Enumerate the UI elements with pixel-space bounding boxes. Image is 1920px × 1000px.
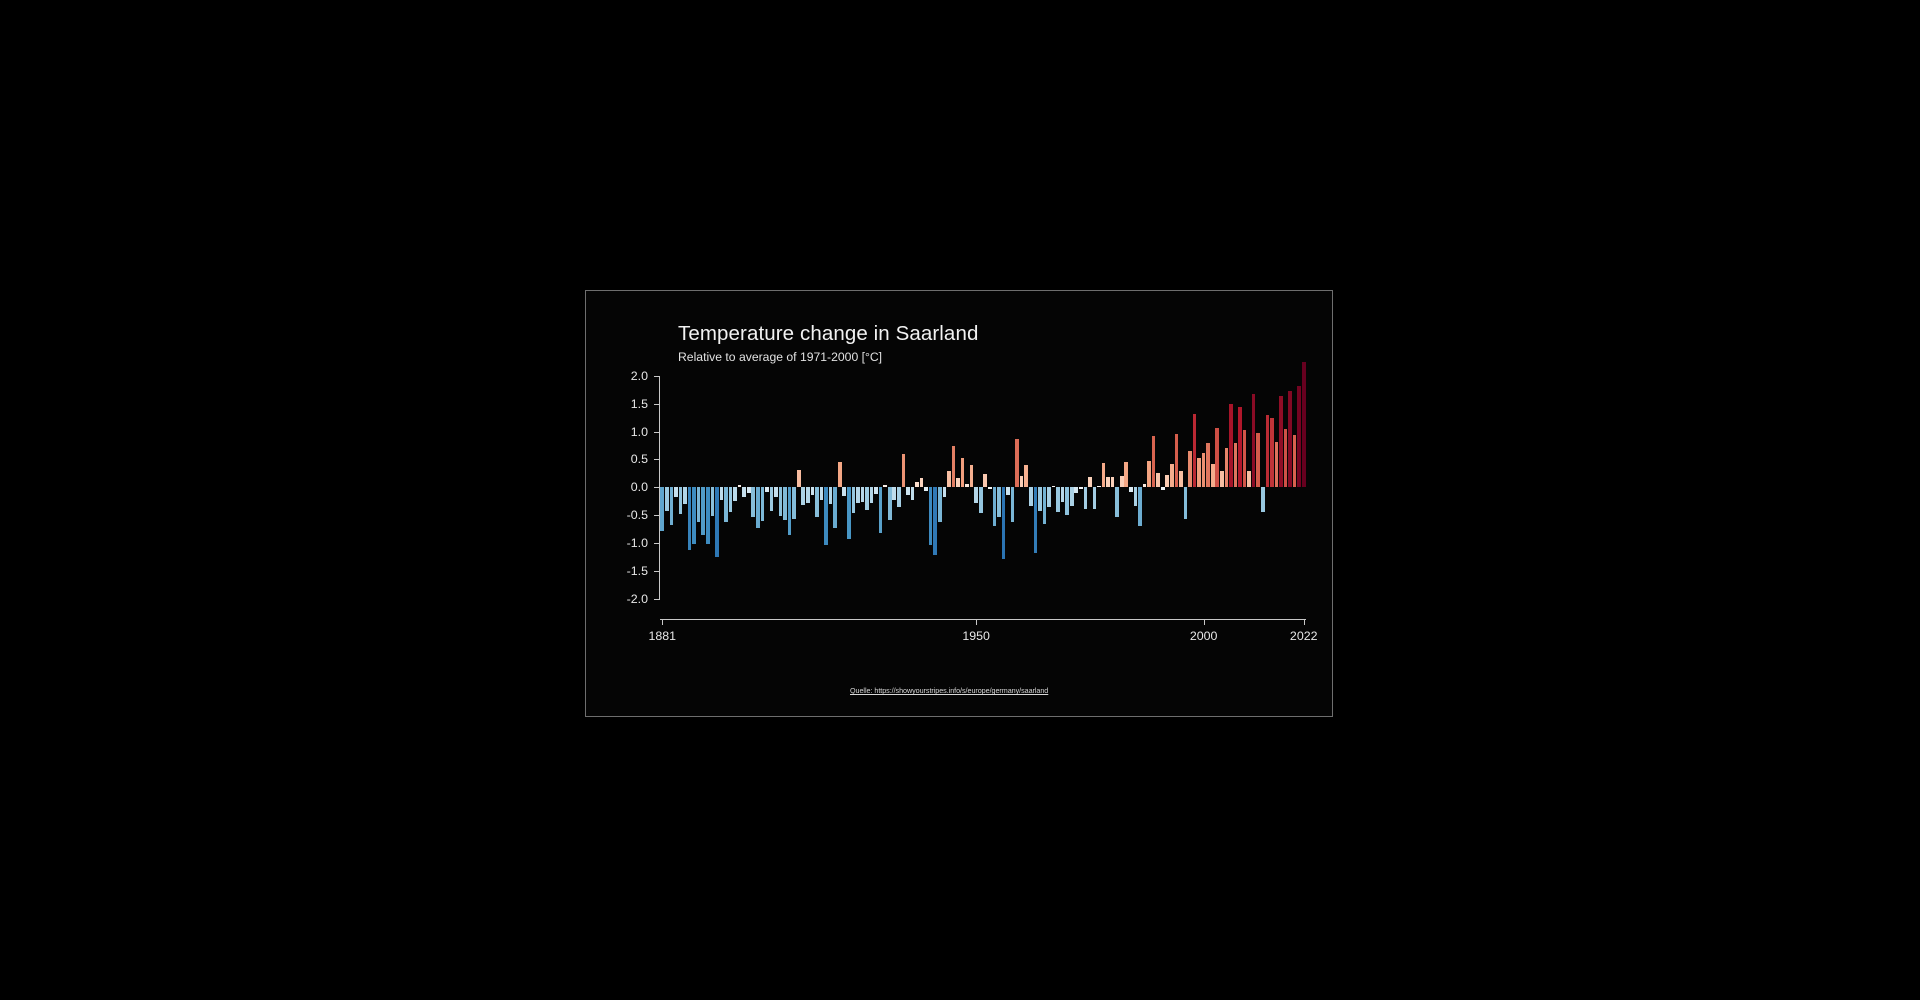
bar-1927 bbox=[870, 487, 874, 503]
bar-1946 bbox=[956, 478, 960, 487]
bar-1944 bbox=[947, 471, 951, 488]
bar-1935 bbox=[906, 487, 910, 495]
bar-1974 bbox=[1084, 487, 1088, 508]
bar-1909 bbox=[788, 487, 792, 535]
bar-1969 bbox=[1061, 487, 1065, 502]
bar-2014 bbox=[1266, 415, 1270, 488]
bar-2016 bbox=[1275, 442, 1279, 488]
bar-1922 bbox=[847, 487, 851, 538]
bar-1925 bbox=[861, 487, 865, 502]
bar-1895 bbox=[724, 487, 728, 522]
bar-1930 bbox=[883, 485, 887, 487]
bar-2013 bbox=[1261, 487, 1265, 512]
bar-1943 bbox=[943, 487, 947, 497]
bar-1991 bbox=[1161, 487, 1165, 489]
bar-1956 bbox=[1002, 487, 1006, 558]
bar-2010 bbox=[1247, 471, 1251, 488]
bar-1887 bbox=[688, 487, 692, 550]
bar-1972 bbox=[1074, 487, 1078, 493]
bar-2012 bbox=[1256, 433, 1260, 488]
bar-2018 bbox=[1284, 429, 1288, 487]
bar-1964 bbox=[1038, 487, 1042, 510]
bar-1954 bbox=[993, 487, 997, 526]
bar-1885 bbox=[679, 487, 683, 514]
bar-1921 bbox=[842, 487, 846, 496]
bar-2001 bbox=[1206, 443, 1210, 488]
bar-1892 bbox=[711, 487, 715, 516]
bar-2019 bbox=[1288, 391, 1292, 487]
x-tick-mark bbox=[1204, 619, 1205, 625]
bar-1985 bbox=[1134, 487, 1138, 506]
plot-area bbox=[660, 359, 1306, 599]
bar-1996 bbox=[1184, 487, 1188, 518]
bar-1908 bbox=[783, 487, 787, 519]
bar-1947 bbox=[961, 458, 965, 487]
bar-1907 bbox=[779, 487, 783, 516]
bar-2006 bbox=[1229, 404, 1233, 488]
bar-1903 bbox=[761, 487, 765, 520]
x-axis-line bbox=[660, 619, 1306, 620]
bar-1975 bbox=[1088, 477, 1092, 487]
y-tick-mark bbox=[654, 599, 660, 600]
bar-1910 bbox=[792, 487, 796, 518]
bar-series bbox=[660, 359, 1306, 599]
bar-2020 bbox=[1293, 435, 1297, 487]
bar-1898 bbox=[738, 485, 742, 487]
bar-2007 bbox=[1234, 443, 1238, 488]
bar-1968 bbox=[1056, 487, 1060, 512]
bar-1894 bbox=[720, 487, 724, 499]
bar-1962 bbox=[1029, 487, 1033, 506]
bar-1896 bbox=[729, 487, 733, 512]
bar-1988 bbox=[1147, 461, 1151, 488]
y-axis: 2.01.51.00.50.0-0.5-1.0-1.5-2.0 bbox=[644, 359, 660, 599]
bar-1936 bbox=[911, 487, 915, 499]
bar-1934 bbox=[902, 454, 906, 487]
bar-1963 bbox=[1034, 487, 1038, 553]
bar-2022 bbox=[1302, 362, 1306, 487]
bar-1926 bbox=[865, 487, 869, 509]
bar-1967 bbox=[1052, 486, 1056, 487]
bar-1901 bbox=[751, 487, 755, 517]
y-tick-label: -2.0 bbox=[627, 592, 648, 606]
bar-1912 bbox=[801, 487, 805, 505]
bar-2017 bbox=[1279, 396, 1283, 488]
y-tick-label: -1.0 bbox=[627, 536, 648, 550]
bar-1938 bbox=[920, 478, 924, 487]
bar-1915 bbox=[815, 487, 819, 517]
bar-1997 bbox=[1188, 451, 1192, 488]
bar-1899 bbox=[742, 487, 746, 497]
y-tick-label: 0.0 bbox=[631, 480, 648, 494]
bar-1902 bbox=[756, 487, 760, 527]
x-tick-mark bbox=[976, 619, 977, 625]
bar-1952 bbox=[983, 474, 987, 487]
bar-1994 bbox=[1175, 434, 1179, 488]
x-tick-mark bbox=[1304, 619, 1305, 625]
bar-1929 bbox=[879, 487, 883, 533]
bar-1978 bbox=[1102, 463, 1106, 488]
bar-1951 bbox=[979, 487, 983, 513]
source-attribution-link[interactable]: Quelle: https://showyourstripes.info/s/e… bbox=[850, 686, 1048, 695]
bar-1995 bbox=[1179, 471, 1183, 488]
bar-2002 bbox=[1211, 464, 1215, 487]
bar-2000 bbox=[1202, 453, 1206, 488]
y-tick-label: 2.0 bbox=[631, 369, 648, 383]
bar-1923 bbox=[852, 487, 856, 513]
bar-2005 bbox=[1225, 448, 1229, 487]
bar-1900 bbox=[747, 487, 751, 493]
bar-1942 bbox=[938, 487, 942, 522]
bar-2009 bbox=[1243, 430, 1247, 487]
bar-1911 bbox=[797, 470, 801, 488]
bar-1882 bbox=[665, 487, 669, 510]
bar-1966 bbox=[1047, 487, 1051, 507]
bar-1961 bbox=[1024, 465, 1028, 487]
bar-1989 bbox=[1152, 436, 1156, 487]
warming-stripes-figure: Temperature change in Saarland Relative … bbox=[585, 290, 1333, 717]
bar-1945 bbox=[952, 446, 956, 487]
x-tick-mark bbox=[662, 619, 663, 625]
bar-1893 bbox=[715, 487, 719, 556]
bar-1937 bbox=[915, 482, 919, 488]
bar-1955 bbox=[997, 487, 1001, 517]
bar-1970 bbox=[1065, 487, 1069, 515]
y-tick-label: 1.0 bbox=[631, 425, 648, 439]
x-tick-label: 2022 bbox=[1290, 629, 1318, 643]
bar-1906 bbox=[774, 487, 778, 497]
x-tick-label: 1950 bbox=[962, 629, 990, 643]
y-tick-label: -1.5 bbox=[627, 564, 648, 578]
bar-1917 bbox=[824, 487, 828, 545]
bar-1998 bbox=[1193, 414, 1197, 488]
bar-1904 bbox=[765, 487, 769, 491]
bar-1971 bbox=[1070, 487, 1074, 506]
bar-1888 bbox=[692, 487, 696, 544]
bar-1924 bbox=[856, 487, 860, 503]
bar-1918 bbox=[829, 487, 833, 504]
bar-1977 bbox=[1097, 486, 1101, 487]
bar-1884 bbox=[674, 487, 678, 497]
bar-1941 bbox=[933, 487, 937, 555]
bar-1920 bbox=[838, 462, 842, 488]
bar-1999 bbox=[1197, 458, 1201, 487]
bar-1891 bbox=[706, 487, 710, 544]
bar-1919 bbox=[833, 487, 837, 527]
bar-2004 bbox=[1220, 471, 1224, 488]
bar-1983 bbox=[1124, 462, 1128, 488]
bar-1976 bbox=[1093, 487, 1097, 508]
bar-2003 bbox=[1215, 428, 1219, 487]
bar-1980 bbox=[1111, 477, 1115, 487]
bar-1973 bbox=[1079, 487, 1083, 488]
bar-1982 bbox=[1120, 476, 1124, 487]
bar-1928 bbox=[874, 487, 878, 494]
y-tick-label: 0.5 bbox=[631, 452, 648, 466]
bar-1886 bbox=[683, 487, 687, 504]
bar-2015 bbox=[1270, 418, 1274, 487]
bar-1889 bbox=[697, 487, 701, 522]
bar-1950 bbox=[974, 487, 978, 503]
bar-1897 bbox=[733, 487, 737, 500]
bar-1932 bbox=[892, 487, 896, 499]
bar-1986 bbox=[1138, 487, 1142, 526]
y-tick-label: 1.5 bbox=[631, 397, 648, 411]
bar-1993 bbox=[1170, 464, 1174, 487]
bar-2008 bbox=[1238, 407, 1242, 487]
bar-1965 bbox=[1043, 487, 1047, 524]
bar-1953 bbox=[988, 487, 992, 488]
bar-1916 bbox=[820, 487, 824, 499]
bar-1949 bbox=[970, 465, 974, 487]
bar-1992 bbox=[1165, 475, 1169, 487]
x-axis: 1881195020002022 bbox=[660, 619, 1306, 649]
page-title: Temperature change in Saarland bbox=[678, 321, 1278, 347]
bar-1881 bbox=[660, 487, 664, 531]
x-tick-label: 1881 bbox=[648, 629, 676, 643]
bar-1960 bbox=[1020, 476, 1024, 487]
bar-1981 bbox=[1115, 487, 1119, 517]
bar-1959 bbox=[1015, 439, 1019, 487]
bar-1987 bbox=[1143, 484, 1147, 487]
bar-1931 bbox=[888, 487, 892, 519]
bar-1940 bbox=[929, 487, 933, 545]
bar-1984 bbox=[1129, 487, 1133, 491]
screenshot-canvas: Temperature change in Saarland Relative … bbox=[0, 0, 1920, 1000]
bar-1990 bbox=[1156, 473, 1160, 488]
bar-1939 bbox=[924, 487, 928, 490]
x-tick-label: 2000 bbox=[1190, 629, 1218, 643]
bar-1957 bbox=[1006, 487, 1010, 495]
bar-1958 bbox=[1011, 487, 1015, 522]
bar-1948 bbox=[965, 484, 969, 487]
bar-1933 bbox=[897, 487, 901, 507]
bar-1914 bbox=[811, 487, 815, 495]
bar-1883 bbox=[670, 487, 674, 525]
bar-2021 bbox=[1297, 386, 1301, 488]
bar-1905 bbox=[770, 487, 774, 510]
bar-2011 bbox=[1252, 394, 1256, 488]
bar-1890 bbox=[701, 487, 705, 535]
y-tick-label: -0.5 bbox=[627, 508, 648, 522]
bar-1979 bbox=[1106, 477, 1110, 487]
bar-1913 bbox=[806, 487, 810, 503]
